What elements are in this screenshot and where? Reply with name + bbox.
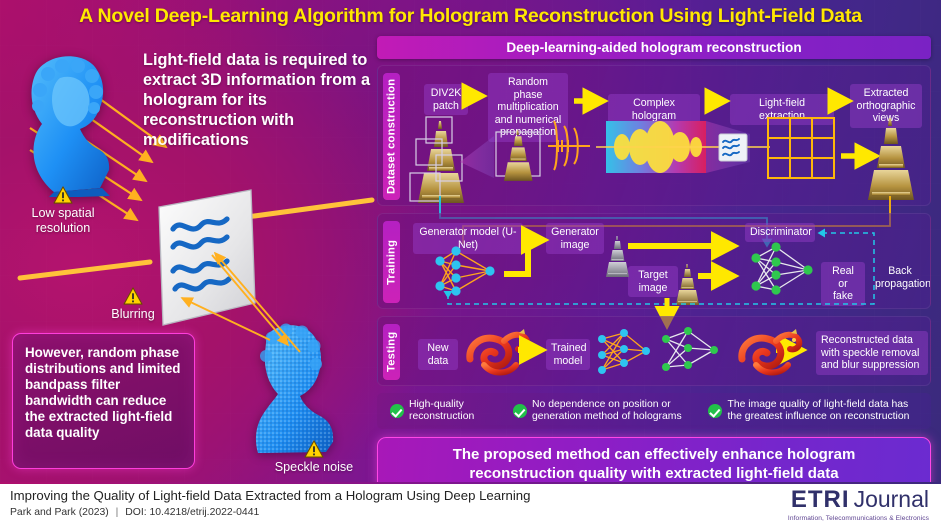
warning-label-text: Speckle noise [275,460,353,474]
graphical-abstract-poster: A Novel Deep-Learning Algorithm for Holo… [0,0,941,528]
testing-stage-graphics [378,317,931,386]
footer-divider [0,482,941,484]
warning-low-spatial-resolution: Low spatial resolution [8,186,118,236]
panel-header: Deep-learning-aided hologram reconstruct… [377,36,931,59]
paper-title: Improving the Quality of Light-field Dat… [10,488,530,503]
warning-label-text: Blurring [111,307,154,321]
logo-tagline: Information, Telecommunications & Electr… [788,515,929,522]
limitation-callout-box: However, random phase distributions and … [12,333,195,469]
finding-image-quality-influence: The image quality of light-field data ha… [708,399,931,424]
stage-training: Training Generator model (U-Net) Generat… [377,213,931,309]
logo-letter-r: R [824,486,840,514]
paper-citation: Park and Park (2023) | DOI: 10.4218/etri… [10,507,259,518]
finding-high-quality-reconstruction: High-quality reconstruction [390,399,503,424]
logo-letter-t: T [808,486,822,514]
warning-label-text: Low spatial resolution [31,206,94,235]
dataset-stage-graphics [378,66,931,206]
findings-bullet-row: High-quality reconstruction No dependenc… [377,393,931,429]
training-stage-graphics [378,214,931,309]
logo-word-journal: Journal [854,486,929,513]
artwork-background: A Novel Deep-Learning Algorithm for Holo… [0,0,941,482]
warning-blurring: Blurring [88,287,178,322]
warning-triangle-icon [53,186,73,204]
logo-letter-i: I [842,486,848,514]
paper-authors: Park and Park (2023) [10,507,109,518]
citation-separator: | [112,507,123,518]
page-title: A Novel Deep-Learning Algorithm for Holo… [79,5,862,28]
stage-testing: Testing New data Trained model Reconstru… [377,316,931,386]
logo-letter-e: E [791,486,806,514]
conclusion-banner: The proposed method can effectively enha… [377,437,931,482]
footer: Improving the Quality of Light-field Dat… [0,482,941,528]
paper-doi: DOI: 10.4218/etrij.2022-0441 [125,507,259,518]
warning-triangle-icon [123,287,143,305]
check-circle-icon [390,404,404,418]
poster-title-bar: A Novel Deep-Learning Algorithm for Holo… [0,0,941,33]
warning-speckle-noise: Speckle noise [256,440,372,475]
method-panel: Deep-learning-aided hologram reconstruct… [377,36,931,476]
left-lede-text: Light-field data is required to extract … [143,50,371,150]
etri-journal-logo: E T R I Journal Information, Telecommuni… [788,486,929,522]
finding-text: High-quality reconstruction [409,399,474,424]
finding-no-position-dependence: No dependence on position or generation … [513,399,698,424]
check-circle-icon [708,404,722,418]
check-circle-icon [513,404,527,418]
finding-text: The image quality of light-field data ha… [727,399,909,424]
warning-triangle-icon [304,440,324,458]
finding-text: No dependence on position or generation … [532,399,682,424]
stage-dataset-construction: Dataset construction DIV2K patch Random … [377,65,931,206]
dragon-reconstructed-image [742,329,799,373]
logo-letters: E T R I [791,486,848,514]
